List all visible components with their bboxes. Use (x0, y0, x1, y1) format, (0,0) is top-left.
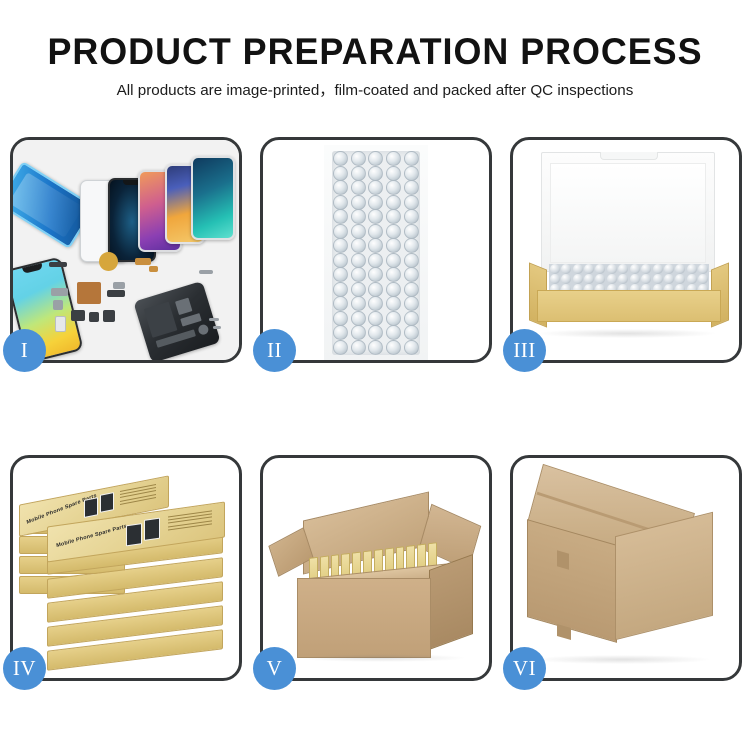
spare-part-button-icon (89, 312, 99, 322)
spare-part-speaker-icon (99, 252, 118, 271)
page-title: PRODUCT PREPARATION PROCESS (11, 30, 739, 74)
bubble-wrap-pouch-icon (324, 145, 428, 360)
process-step-panel-4: Mobile Phone Spare Parts Mobile Phone Sp… (10, 455, 242, 681)
mailer-box-lid-icon (541, 152, 715, 272)
box-label-thumb-front-1 (126, 523, 142, 546)
step-badge-6: VI (503, 647, 546, 690)
box-label-lines-front (168, 510, 212, 532)
spare-part-strip-icon (49, 262, 67, 267)
carton-shadow (297, 654, 467, 662)
spare-part-cable-icon (107, 290, 125, 297)
mailer-box-front-icon (537, 290, 721, 322)
spare-part-connector-icon (149, 266, 158, 272)
sealed-carton-tab-top (557, 550, 569, 569)
process-step-panel-5: V (260, 455, 492, 681)
step-5-image (263, 458, 489, 678)
box-label-thumb-back-2 (100, 492, 114, 513)
carton-front-face (297, 578, 431, 658)
spare-part-sim-tray-icon (55, 316, 66, 332)
step-badge-3: III (503, 329, 546, 372)
spare-part-bracket-icon (51, 288, 68, 296)
step-3-image (513, 140, 739, 360)
mailer-box-shadow (539, 329, 715, 338)
process-step-grid: I (10, 137, 742, 681)
spare-part-flex-icon (135, 258, 151, 265)
box-label-thumb-back-1 (84, 497, 98, 518)
step-badge-5: V (253, 647, 296, 690)
process-step-panel-3: III (510, 137, 742, 363)
page-subtitle: All products are image-printed，film-coat… (0, 80, 750, 102)
step-4-image: Mobile Phone Spare Parts Mobile Phone Sp… (13, 458, 239, 678)
box-label-text-front: Mobile Phone Spare Parts (56, 523, 127, 549)
process-step-panel-6: VI (510, 455, 742, 681)
page-header: PRODUCT PREPARATION PROCESS All products… (0, 0, 750, 102)
spare-part-camera-icon (103, 310, 115, 322)
step-badge-4: IV (3, 647, 46, 690)
process-step-panel-1: I (10, 137, 242, 363)
spare-part-clip-icon (53, 300, 63, 310)
step-6-image (513, 458, 739, 678)
box-label-lines-back (120, 484, 156, 507)
process-step-panel-2: II (260, 137, 492, 363)
step-badge-1: I (3, 329, 46, 372)
step-2-image (263, 140, 489, 360)
bubble-wrap-sheet (332, 151, 420, 355)
carton-right-side (429, 554, 473, 650)
box-label-thumb-front-2 (144, 518, 160, 541)
step-badge-2: II (253, 329, 296, 372)
spare-part-shield-icon (113, 282, 125, 289)
spare-part-screw-icon (209, 318, 219, 321)
phone-screen-teal-icon (191, 156, 235, 240)
sealed-carton-shadow (535, 655, 709, 664)
spare-part-chip-array-icon (77, 282, 101, 304)
spare-part-module-icon (71, 310, 85, 321)
step-1-image (13, 140, 239, 360)
spare-part-screw-small-icon (213, 326, 221, 329)
spare-part-screwdriver-icon (199, 270, 213, 274)
